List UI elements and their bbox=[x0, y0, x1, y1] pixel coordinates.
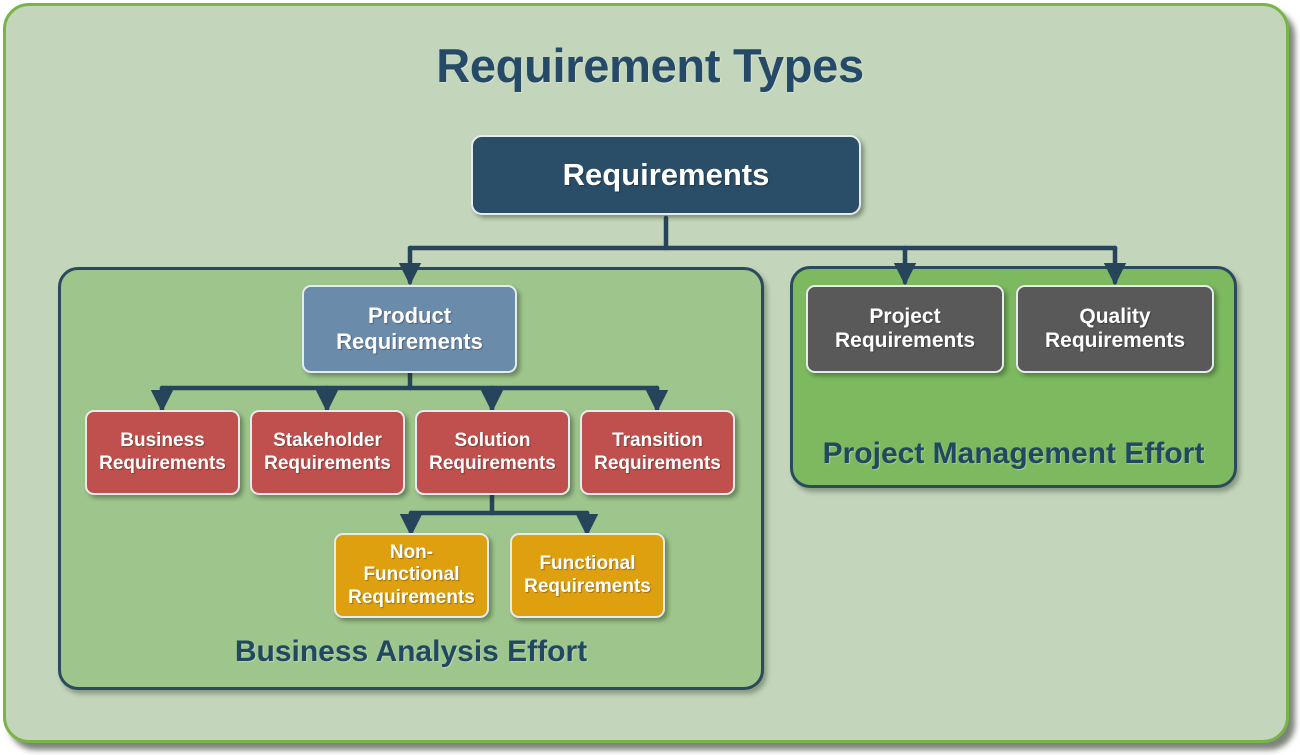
page-title: Requirement Types bbox=[0, 38, 1300, 93]
node-functional-requirements[interactable]: Functional Requirements bbox=[510, 533, 665, 618]
group-label-business-analysis-effort: Business Analysis Effort bbox=[61, 635, 761, 669]
node-non-functional-requirements[interactable]: Non- Functional Requirements bbox=[334, 533, 489, 618]
node-stakeholder-requirements[interactable]: Stakeholder Requirements bbox=[250, 410, 405, 495]
node-requirements[interactable]: Requirements bbox=[471, 135, 861, 215]
node-product-requirements[interactable]: Product Requirements bbox=[302, 285, 517, 373]
node-transition-requirements[interactable]: Transition Requirements bbox=[580, 410, 735, 495]
diagram-canvas: Requirement Types Business Analysis Effo… bbox=[0, 0, 1300, 755]
node-business-requirements[interactable]: Business Requirements bbox=[85, 410, 240, 495]
node-quality-requirements[interactable]: Quality Requirements bbox=[1016, 285, 1214, 373]
node-solution-requirements[interactable]: Solution Requirements bbox=[415, 410, 570, 495]
group-label-project-management-effort: Project Management Effort bbox=[793, 437, 1234, 471]
node-project-requirements[interactable]: Project Requirements bbox=[806, 285, 1004, 373]
